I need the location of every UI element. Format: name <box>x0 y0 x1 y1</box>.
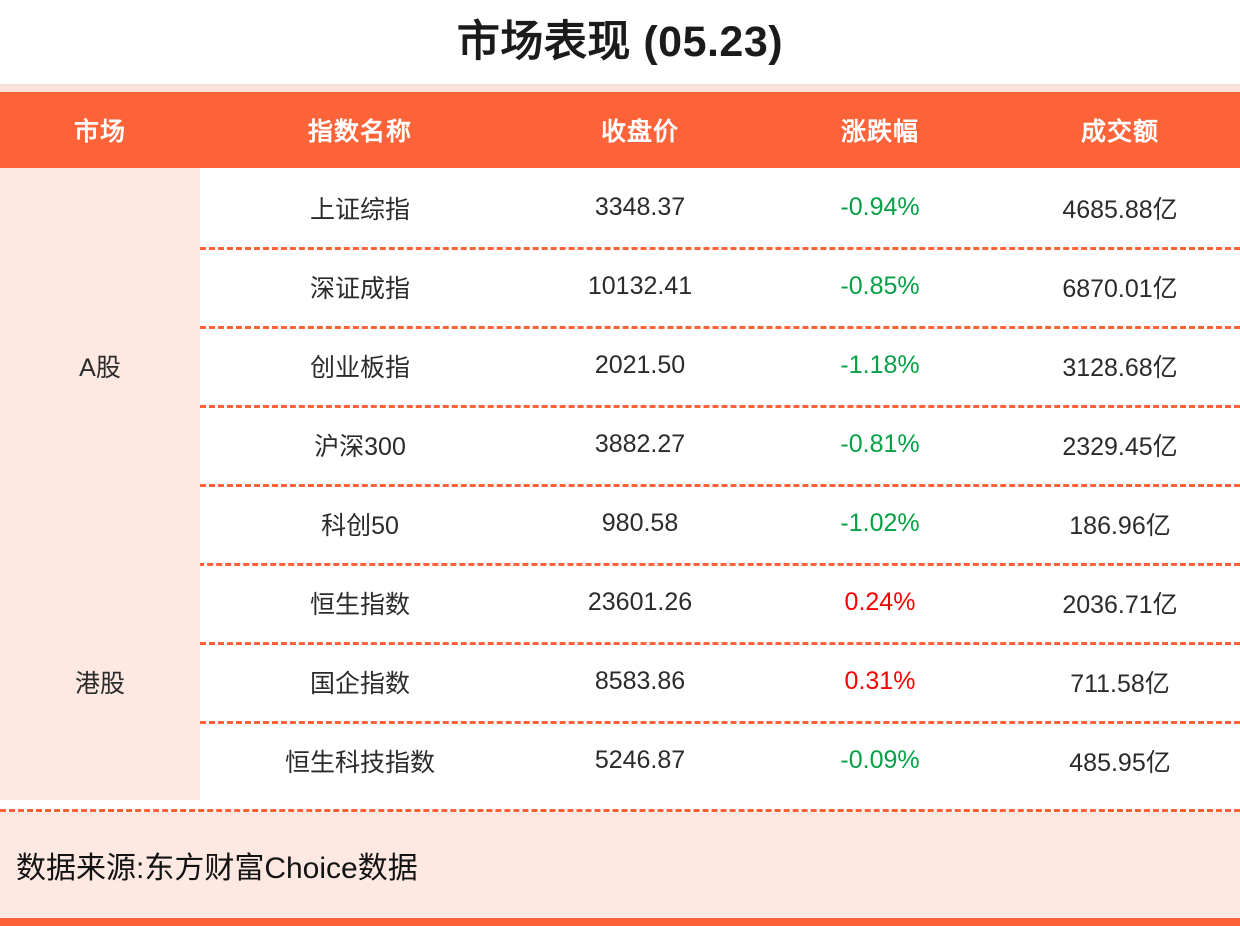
cell-index-name: 深证成指 <box>200 247 520 326</box>
cell-turnover: 6870.01亿 <box>1000 247 1240 326</box>
cell-turnover: 3128.68亿 <box>1000 326 1240 405</box>
market-group-label: 港股 <box>75 664 125 700</box>
cell-change-percent: -1.18% <box>760 326 1000 405</box>
table-body: A股上证综指3348.37-0.94%4685.88亿深证成指10132.41-… <box>0 168 1240 810</box>
header-top-strip <box>0 84 1240 92</box>
cell-index-name: 恒生指数 <box>200 563 520 642</box>
cell-turnover: 711.58亿 <box>1000 642 1240 721</box>
market-group-rows: 恒生指数23601.260.24%2036.71亿国企指数8583.860.31… <box>200 563 1240 800</box>
cell-turnover: 186.96亿 <box>1000 484 1240 563</box>
cell-change-percent: 0.24% <box>760 563 1000 642</box>
table-row[interactable]: 恒生指数23601.260.24%2036.71亿 <box>200 563 1240 642</box>
cell-close-price: 5246.87 <box>520 721 760 800</box>
page-title: 市场表现 (05.23) <box>457 21 783 64</box>
cell-turnover: 2329.45亿 <box>1000 405 1240 484</box>
table-row[interactable]: 科创50980.58-1.02%186.96亿 <box>200 484 1240 563</box>
market-group-label: A股 <box>79 348 121 384</box>
table-header-row: 市场 指数名称 收盘价 涨跌幅 成交额 <box>0 92 1240 168</box>
cell-turnover: 2036.71亿 <box>1000 563 1240 642</box>
cell-index-name: 国企指数 <box>200 642 520 721</box>
cell-change-percent: -0.85% <box>760 247 1000 326</box>
cell-close-price: 3348.37 <box>520 168 760 247</box>
cell-index-name: 恒生科技指数 <box>200 721 520 800</box>
table-row[interactable]: 恒生科技指数5246.87-0.09%485.95亿 <box>200 721 1240 800</box>
cell-close-price: 980.58 <box>520 484 760 563</box>
cell-close-price: 10132.41 <box>520 247 760 326</box>
table-row[interactable]: 创业板指2021.50-1.18%3128.68亿 <box>200 326 1240 405</box>
cell-close-price: 8583.86 <box>520 642 760 721</box>
cell-turnover: 4685.88亿 <box>1000 168 1240 247</box>
column-header-change: 涨跌幅 <box>760 92 1000 168</box>
column-header-market: 市场 <box>0 92 200 168</box>
table-row[interactable]: 上证综指3348.37-0.94%4685.88亿 <box>200 168 1240 247</box>
market-performance-card: 市场表现 (05.23) 市场 指数名称 收盘价 涨跌幅 成交额 A股上证综指3… <box>0 0 1240 926</box>
cell-close-price: 23601.26 <box>520 563 760 642</box>
cell-index-name: 上证综指 <box>200 168 520 247</box>
column-header-close: 收盘价 <box>520 92 760 168</box>
cell-index-name: 沪深300 <box>200 405 520 484</box>
cell-index-name: 创业板指 <box>200 326 520 405</box>
column-header-turnover: 成交额 <box>1000 92 1240 168</box>
cell-index-name: 科创50 <box>200 484 520 563</box>
cell-change-percent: -0.81% <box>760 405 1000 484</box>
footer: 数据来源:东方财富Choice数据 <box>0 812 1240 918</box>
data-source-label: 数据来源:东方财富Choice数据 <box>16 843 418 887</box>
bottom-accent-bar <box>0 918 1240 926</box>
title-area: 市场表现 (05.23) <box>0 0 1240 84</box>
market-group-cell: A股 <box>0 168 200 563</box>
cell-close-price: 2021.50 <box>520 326 760 405</box>
table-row[interactable]: 深证成指10132.41-0.85%6870.01亿 <box>200 247 1240 326</box>
column-header-index-name: 指数名称 <box>200 92 520 168</box>
cell-change-percent: -1.02% <box>760 484 1000 563</box>
market-group-cell: 港股 <box>0 563 200 800</box>
table-row[interactable]: 沪深3003882.27-0.81%2329.45亿 <box>200 405 1240 484</box>
cell-close-price: 3882.27 <box>520 405 760 484</box>
cell-change-percent: 0.31% <box>760 642 1000 721</box>
cell-turnover: 485.95亿 <box>1000 721 1240 800</box>
cell-change-percent: -0.09% <box>760 721 1000 800</box>
table-row[interactable]: 国企指数8583.860.31%711.58亿 <box>200 642 1240 721</box>
cell-change-percent: -0.94% <box>760 168 1000 247</box>
market-group-rows: 上证综指3348.37-0.94%4685.88亿深证成指10132.41-0.… <box>200 168 1240 563</box>
